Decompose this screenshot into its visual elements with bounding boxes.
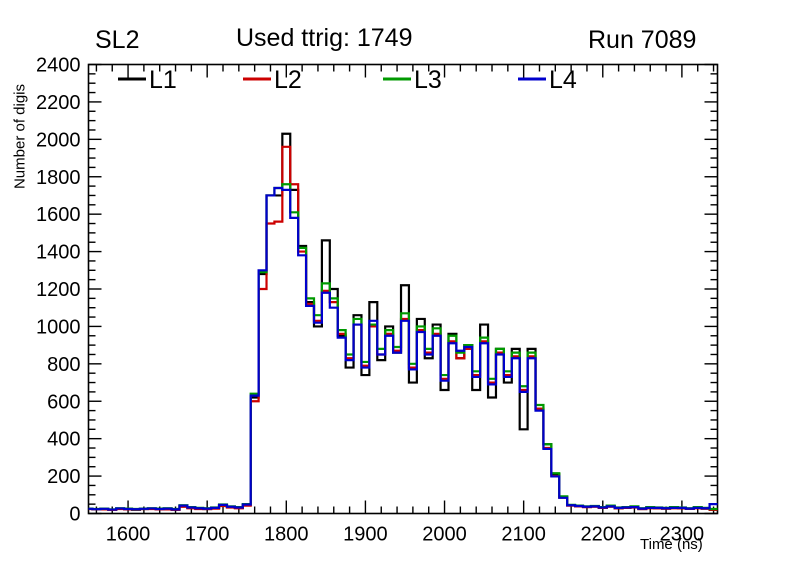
x-axis-ticks (96, 65, 713, 514)
y-tick-labels: 0200400600800100012001400160018002000220… (36, 55, 81, 526)
plot-area: 0200400600800100012001400160018002000220… (0, 0, 796, 572)
x-tick-label: 1600 (106, 524, 151, 546)
y-tick-label: 1200 (36, 279, 81, 301)
x-tick-labels: 16001700180019002000210022002300 (106, 524, 704, 546)
x-tick-label: 1800 (264, 524, 309, 546)
legend-label-l1: L1 (149, 66, 177, 94)
x-tick-label: 1900 (343, 524, 388, 546)
y-tick-label: 800 (47, 354, 80, 376)
axis-frame (89, 65, 718, 514)
y-tick-label: 1800 (36, 167, 81, 189)
y-tick-label: 1000 (36, 316, 81, 338)
chart-canvas: SL2 Used ttrig: 1749 Run 7089 Number of … (0, 0, 796, 572)
x-tick-label: 2100 (501, 524, 546, 546)
y-tick-label: 2200 (36, 92, 81, 114)
y-tick-label: 2400 (36, 55, 81, 77)
x-tick-label: 1700 (185, 524, 230, 546)
y-tick-label: 600 (47, 391, 80, 413)
series-line-l2 (89, 147, 718, 510)
x-tick-label: 2000 (422, 524, 467, 546)
y-tick-label: 1400 (36, 242, 81, 264)
y-axis-ticks (89, 65, 718, 514)
data-series-group (89, 134, 718, 510)
y-tick-label: 400 (47, 429, 80, 451)
legend-label-l4: L4 (549, 66, 577, 94)
legend-label-l2: L2 (274, 66, 302, 94)
y-tick-label: 1600 (36, 204, 81, 226)
y-tick-label: 0 (69, 504, 80, 526)
series-line-l3 (89, 184, 718, 509)
x-tick-label: 2200 (581, 524, 626, 546)
y-tick-label: 200 (47, 466, 80, 488)
series-line-l4 (89, 188, 718, 510)
legend-label-l3: L3 (414, 66, 442, 94)
y-tick-label: 2000 (36, 129, 81, 151)
x-tick-label: 2300 (660, 524, 705, 546)
